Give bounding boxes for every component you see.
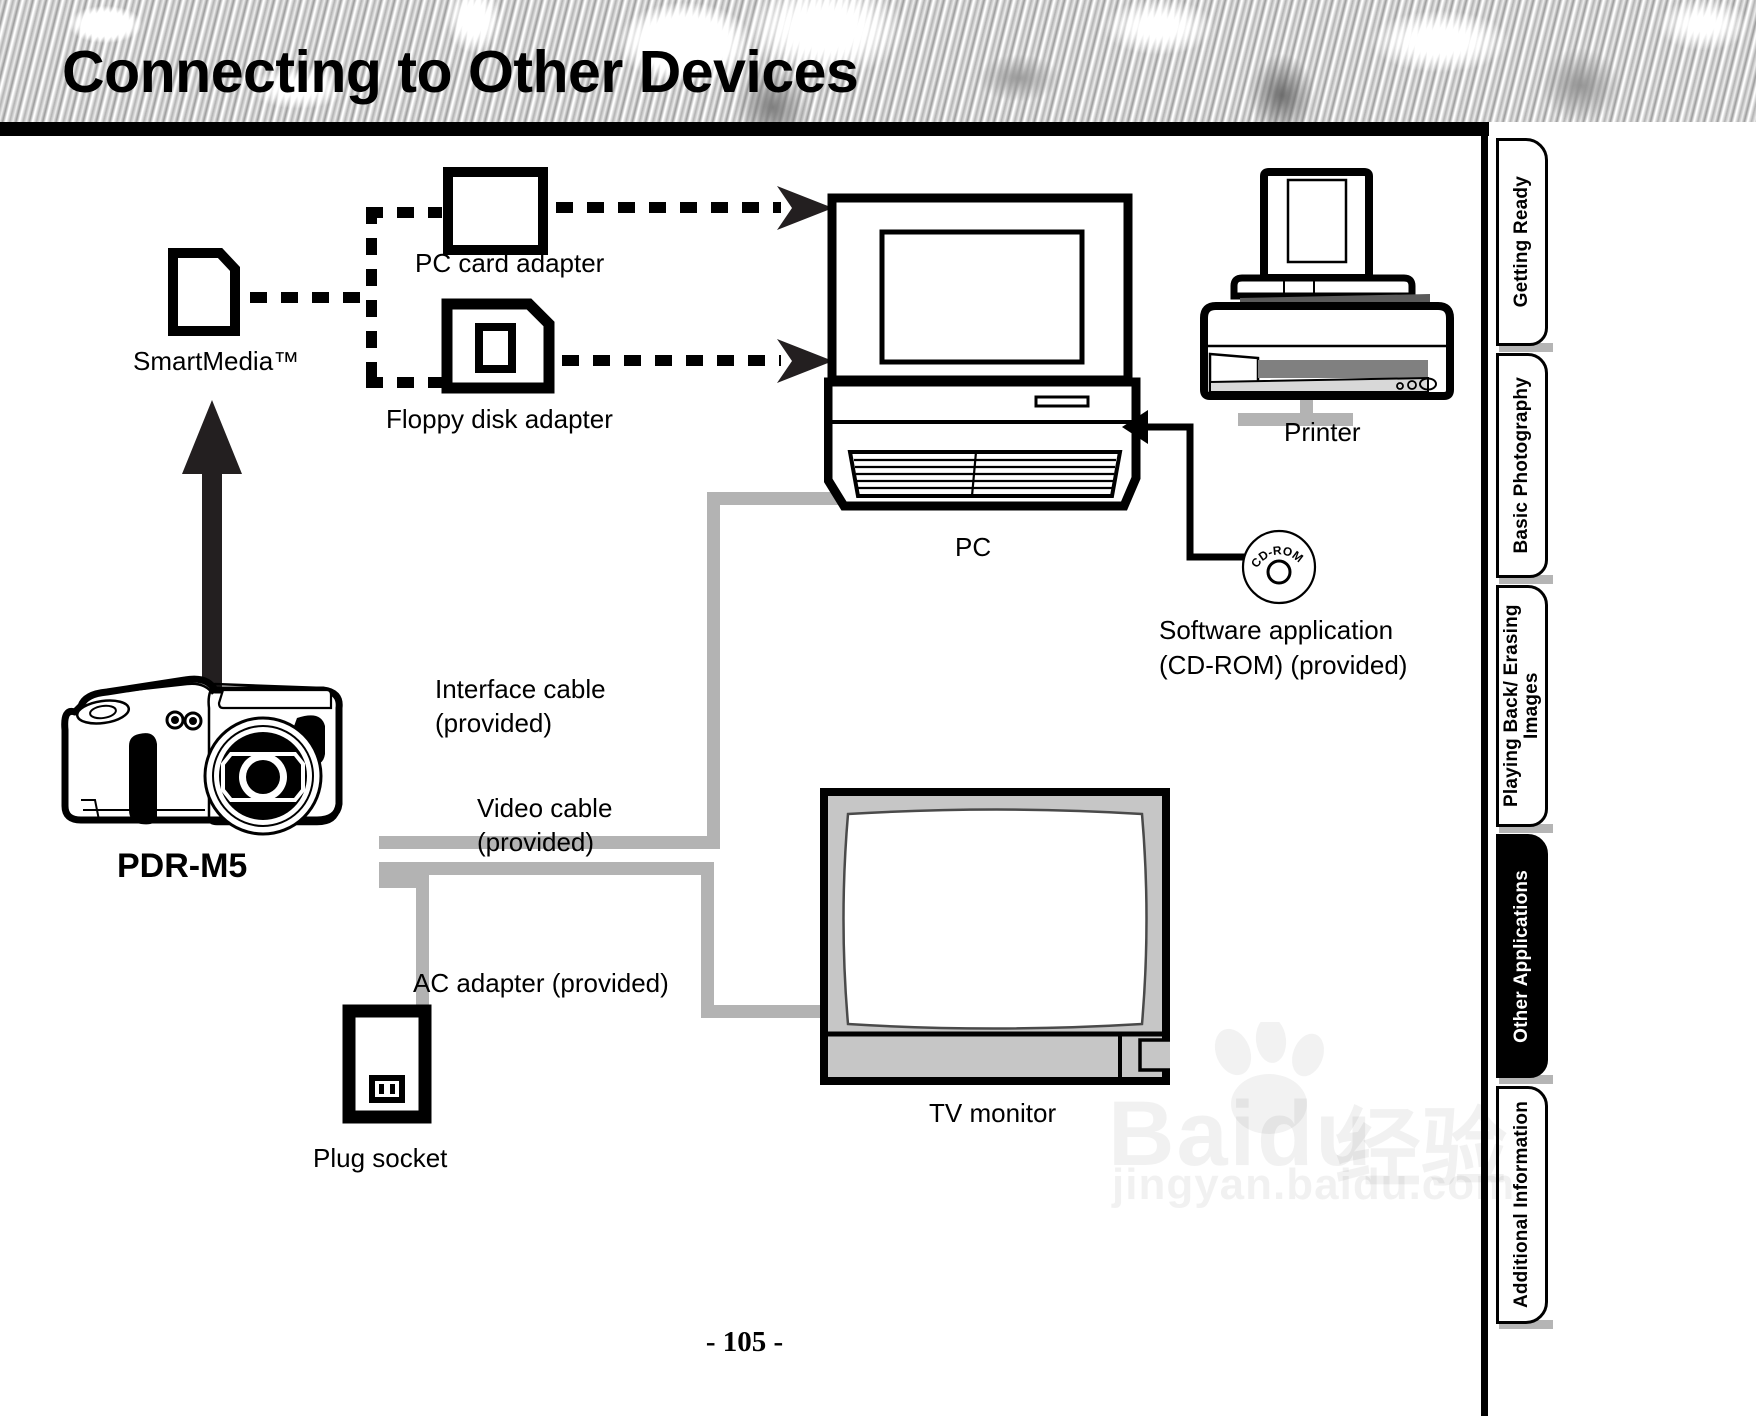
- tab-label: Other Applications: [1512, 870, 1532, 1043]
- dashed-connector: [366, 377, 442, 388]
- page-title: Connecting to Other Devices: [62, 43, 858, 102]
- page-number: - 105 -: [0, 1326, 1489, 1359]
- page-header-band: Connecting to Other Devices: [0, 0, 1756, 122]
- floppy-disk-adapter-label: Floppy disk adapter: [386, 403, 613, 436]
- ac-adapter-label: AC adapter (provided): [413, 967, 669, 1000]
- cdrom-to-pc-arrow-icon: [1118, 405, 1253, 565]
- cdrom-disc-icon: CD-ROM: [1240, 528, 1318, 606]
- section-tabs: Getting Ready Basic Photography Playing …: [1496, 138, 1548, 1400]
- tab-inner: Basic Photography: [1499, 356, 1545, 575]
- dashed-connector: [366, 207, 377, 387]
- pc-label: PC: [955, 531, 991, 564]
- sidebar-item-getting-ready[interactable]: Getting Ready: [1496, 138, 1548, 346]
- watermark-brand: Baidu: [1108, 1082, 1374, 1187]
- sidebar-item-playing-back-erasing-images[interactable]: Playing Back/ Erasing Images: [1496, 585, 1548, 827]
- interface-cable-segment: [707, 492, 720, 849]
- camera-model-label: PDR-M5: [117, 847, 247, 886]
- tab-inner: Playing Back/ Erasing Images: [1499, 588, 1545, 824]
- dashed-connector: [250, 292, 370, 303]
- sidebar-item-additional-information[interactable]: Additional Information: [1496, 1086, 1548, 1324]
- plug-socket-label: Plug socket: [313, 1142, 447, 1175]
- smartmedia-label: SmartMedia™: [133, 345, 299, 378]
- video-cable-label-line1: Video cable: [477, 792, 612, 825]
- tab-label: Playing Back/ Erasing Images: [1502, 588, 1542, 824]
- tab-label: Getting Ready: [1512, 176, 1532, 307]
- watermark-url: jingyan.baidu.com: [1112, 1160, 1515, 1210]
- dashed-connector: [562, 355, 781, 366]
- tab-inner: Getting Ready: [1499, 141, 1545, 343]
- pc-card-adapter-icon: [443, 167, 548, 255]
- interface-cable-label-line1: Interface cable: [435, 673, 606, 706]
- tab-label: Additional Information: [1512, 1101, 1532, 1308]
- video-cable-label-line2: (provided): [477, 826, 594, 859]
- video-cable-segment: [701, 862, 714, 1017]
- tab-inner: Other Applications: [1499, 837, 1545, 1075]
- pc-card-adapter-label: PC card adapter: [415, 247, 604, 280]
- tab-inner: Additional Information: [1499, 1089, 1545, 1321]
- camera-pdr-m5-icon: [55, 650, 355, 840]
- sidebar-item-basic-photography[interactable]: Basic Photography: [1496, 353, 1548, 578]
- printer-label: Printer: [1284, 416, 1361, 449]
- header-rule: [0, 122, 1489, 136]
- software-application-label-line1: Software application: [1159, 614, 1393, 647]
- tv-monitor-icon: [820, 788, 1170, 1085]
- sidebar-item-other-applications[interactable]: Other Applications: [1496, 834, 1548, 1078]
- video-cable-segment: [379, 862, 714, 875]
- page-right-border: [1481, 122, 1488, 1416]
- tab-label: Basic Photography: [1512, 377, 1532, 554]
- dashed-connector: [556, 202, 781, 213]
- interface-cable-label-line2: (provided): [435, 707, 552, 740]
- floppy-disk-adapter-icon: [441, 298, 555, 394]
- pc-laptop-icon: [824, 190, 1144, 515]
- software-application-label-line2: (CD-ROM) (provided): [1159, 649, 1407, 682]
- tv-monitor-label: TV monitor: [929, 1097, 1056, 1130]
- dashed-connector: [366, 207, 442, 218]
- watermark-paw-icon: [1205, 1022, 1335, 1138]
- smartmedia-card-icon: [168, 248, 240, 336]
- printer-icon: [1192, 168, 1462, 403]
- plug-socket-icon: [342, 1004, 432, 1124]
